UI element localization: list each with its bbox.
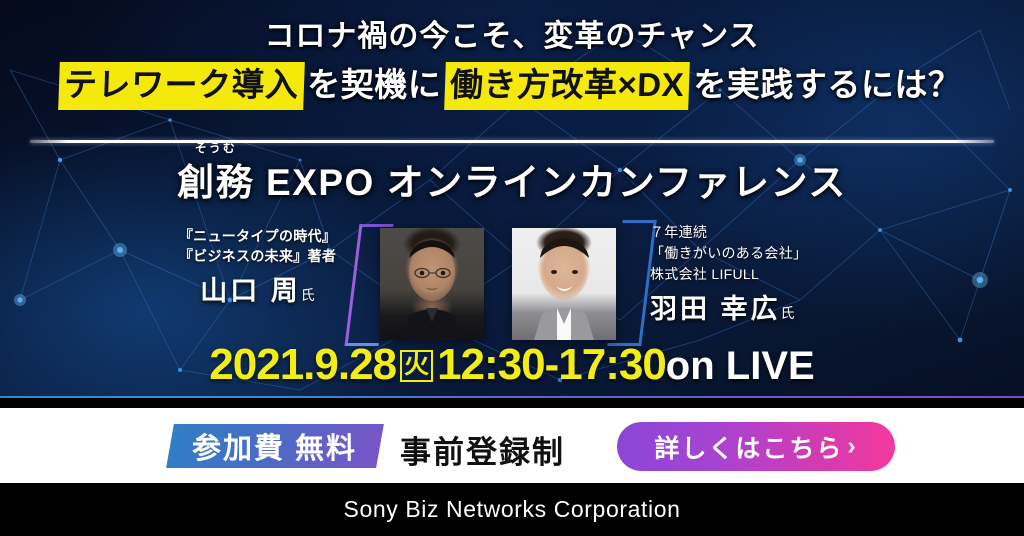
event-date: 2021.9.28 (209, 340, 396, 389)
ruby-group-soumu: そうむ創務 (177, 152, 254, 206)
preregistration-label: 事前登録制 (400, 427, 565, 472)
divider-line (30, 140, 994, 143)
event-weekday-badge: 火 (400, 350, 433, 382)
headline-text-end: を実践するには？ (689, 66, 965, 103)
event-datetime: 2021.9.28火12:30-17:30on LIVE (0, 340, 1024, 390)
speakers-section: 『ニュータイプの時代』 『ビジネスの未来』著者 山口 周氏 ７年連続 「働きがい… (0, 210, 1024, 338)
details-cta-button[interactable]: 詳しくはこちら› (617, 422, 895, 471)
speaker-left-name: 山口 周 (200, 276, 301, 306)
headline-text-mid: を契機に (303, 66, 445, 103)
cta-band: 参加費 無料 事前登録制 詳しくはこちら› (0, 408, 1024, 483)
speaker-right-desc-line-1: ７年連続 (650, 222, 900, 243)
headline-highlight-workstyle-dx: 働き方改革×DX (444, 62, 690, 110)
speaker-left-name-row: 山口 周氏 (150, 269, 365, 308)
speaker-info-right: ７年連続 「働きがいのある会社」 株式会社 LIFULL 羽田 幸広氏 (650, 222, 900, 326)
free-admission-badge: 参加費 無料 (166, 424, 384, 468)
portrait-detail-right (512, 228, 616, 340)
event-title-rest: EXPO オンラインカンファレンス (254, 162, 847, 203)
webinar-promo-banner: コロナ禍の今こそ、変革のチャンス テレワーク導入を契機に働き方改革×DXを実践す… (0, 0, 1024, 536)
details-cta-label: 詳しくはこちら (654, 429, 843, 465)
speaker-right-desc-line-2: 「働きがいのある会社」 (650, 243, 900, 264)
event-live-label: on LIVE (666, 344, 815, 388)
portrait-detail-left (380, 228, 484, 340)
ruby-base-text: 創務 (177, 162, 254, 203)
speaker-right-name: 羽田 幸広 (650, 294, 781, 324)
event-time: 12:30-17:30 (437, 340, 666, 389)
footer-bar: Sony Biz Networks Corporation (0, 483, 1024, 536)
speaker-photo-haneda (512, 228, 616, 340)
speaker-info-left: 『ニュータイプの時代』 『ビジネスの未来』著者 山口 周氏 (150, 226, 365, 308)
speaker-left-suffix: 氏 (301, 287, 315, 303)
speaker-left-desc-line-1: 『ニュータイプの時代』 (150, 226, 365, 246)
speaker-left-desc-line-2: 『ビジネスの未来』著者 (150, 246, 365, 266)
headline: コロナ禍の今こそ、変革のチャンス テレワーク導入を契機に働き方改革×DXを実践す… (0, 18, 1024, 109)
speaker-right-name-row: 羽田 幸広氏 (650, 287, 900, 326)
chevron-right-icon: › (847, 432, 857, 461)
free-admission-label: 参加費 無料 (192, 425, 357, 467)
event-title-main: そうむ創務 EXPO オンラインカンファレンス (177, 162, 847, 203)
headline-highlight-telework: テレワーク導入 (58, 62, 304, 110)
company-name: Sony Biz Networks Corporation (344, 496, 681, 523)
hero-background: コロナ禍の今こそ、変革のチャンス テレワーク導入を契機に働き方改革×DXを実践す… (0, 0, 1024, 398)
speaker-right-suffix: 氏 (781, 305, 795, 321)
headline-line-1: コロナ禍の今こそ、変革のチャンス (0, 18, 1024, 56)
ruby-annotation: そうむ (195, 139, 237, 156)
gradient-accent-strip (0, 396, 1024, 398)
speaker-right-desc-line-3: 株式会社 LIFULL (650, 264, 900, 285)
speaker-photo-yamaguchi (380, 228, 484, 340)
headline-line-2: テレワーク導入を契機に働き方改革×DXを実践するには？ (0, 62, 1024, 110)
event-title: そうむ創務 EXPO オンラインカンファレンス (0, 152, 1024, 206)
